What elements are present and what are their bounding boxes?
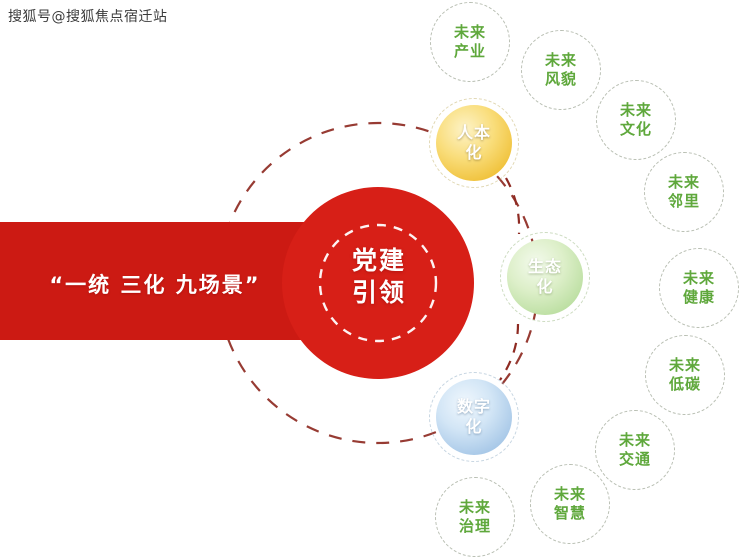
scenario-label-line-2: 智慧: [554, 504, 586, 523]
scenario-bubble-future-health[interactable]: 未来 健康: [659, 248, 739, 328]
connector-shengtai-to-shuzi: [500, 324, 518, 380]
scenario-label-future-neighborhood: 未来 邻里: [668, 173, 700, 211]
party-building-core-label: 党建 引领: [334, 245, 424, 309]
scenario-label-future-low-carbon: 未来 低碳: [669, 356, 701, 394]
scenario-bubble-future-landscape[interactable]: 未来 风貌: [521, 30, 601, 110]
scenario-bubble-future-smart[interactable]: 未来 智慧: [530, 464, 610, 544]
core-label-line-2: 引领: [334, 277, 424, 309]
pillar-label-line-1: 数字: [457, 397, 491, 417]
scenario-label-line-2: 健康: [683, 288, 715, 307]
scenario-label-line-1: 未来: [459, 498, 491, 517]
pillar-label-line-1: 生态: [528, 257, 562, 277]
scenario-label-line-1: 未来: [619, 431, 651, 450]
scenario-label-line-2: 风貌: [545, 70, 577, 89]
pillar-label-shuzihua: 数字 化: [457, 397, 491, 437]
scenario-label-line-2: 产业: [454, 42, 486, 61]
core-label-line-1: 党建: [334, 245, 424, 277]
scenario-label-future-industry: 未来 产业: [454, 23, 486, 61]
scenario-label-line-1: 未来: [620, 101, 652, 120]
scenario-bubble-future-neighborhood[interactable]: 未来 邻里: [644, 152, 724, 232]
pillar-label-line-2: 化: [528, 277, 562, 297]
scenario-label-line-2: 文化: [620, 120, 652, 139]
pillar-label-shengtaihua: 生态 化: [528, 257, 562, 297]
pillar-label-line-2: 化: [457, 417, 491, 437]
scenario-bubble-future-governance[interactable]: 未来 治理: [435, 477, 515, 557]
scenario-label-line-2: 交通: [619, 450, 651, 469]
sohu-watermark: 搜狐号@搜狐焦点宿迁站: [8, 8, 168, 26]
scenario-label-future-health: 未来 健康: [683, 269, 715, 307]
pillar-bubble-shuzihua[interactable]: 数字 化: [429, 372, 519, 462]
scenario-bubble-future-low-carbon[interactable]: 未来 低碳: [645, 335, 725, 415]
pillar-bubble-shengtaihua[interactable]: 生态 化: [500, 232, 590, 322]
scenario-label-line-2: 低碳: [669, 375, 701, 394]
strategy-banner-label: “一统 三化 九场景”: [40, 272, 270, 298]
scenario-label-line-1: 未来: [545, 51, 577, 70]
scenario-label-future-landscape: 未来 风貌: [545, 51, 577, 89]
scenario-label-future-governance: 未来 治理: [459, 498, 491, 536]
scenario-bubble-future-industry[interactable]: 未来 产业: [430, 2, 510, 82]
pillar-label-line-2: 化: [457, 143, 491, 163]
scenario-label-line-1: 未来: [669, 356, 701, 375]
scenario-label-line-2: 邻里: [668, 192, 700, 211]
scenario-label-line-1: 未来: [668, 173, 700, 192]
infographic-canvas: 搜狐号@搜狐焦点宿迁站 “一统 三化 九场景” 党建 引领 人本 化 生态 化 …: [0, 0, 740, 557]
scenario-label-line-1: 未来: [683, 269, 715, 288]
pillar-label-renbenhua: 人本 化: [457, 123, 491, 163]
scenario-label-future-transport: 未来 交通: [619, 431, 651, 469]
scenario-label-line-2: 治理: [459, 517, 491, 536]
scenario-label-future-culture: 未来 文化: [620, 101, 652, 139]
scenario-label-line-1: 未来: [454, 23, 486, 42]
pillar-bubble-renbenhua[interactable]: 人本 化: [429, 98, 519, 188]
pillar-label-line-1: 人本: [457, 123, 491, 143]
scenario-bubble-future-culture[interactable]: 未来 文化: [596, 80, 676, 160]
scenario-bubble-future-transport[interactable]: 未来 交通: [595, 410, 675, 490]
scenario-label-line-1: 未来: [554, 485, 586, 504]
scenario-label-future-smart: 未来 智慧: [554, 485, 586, 523]
